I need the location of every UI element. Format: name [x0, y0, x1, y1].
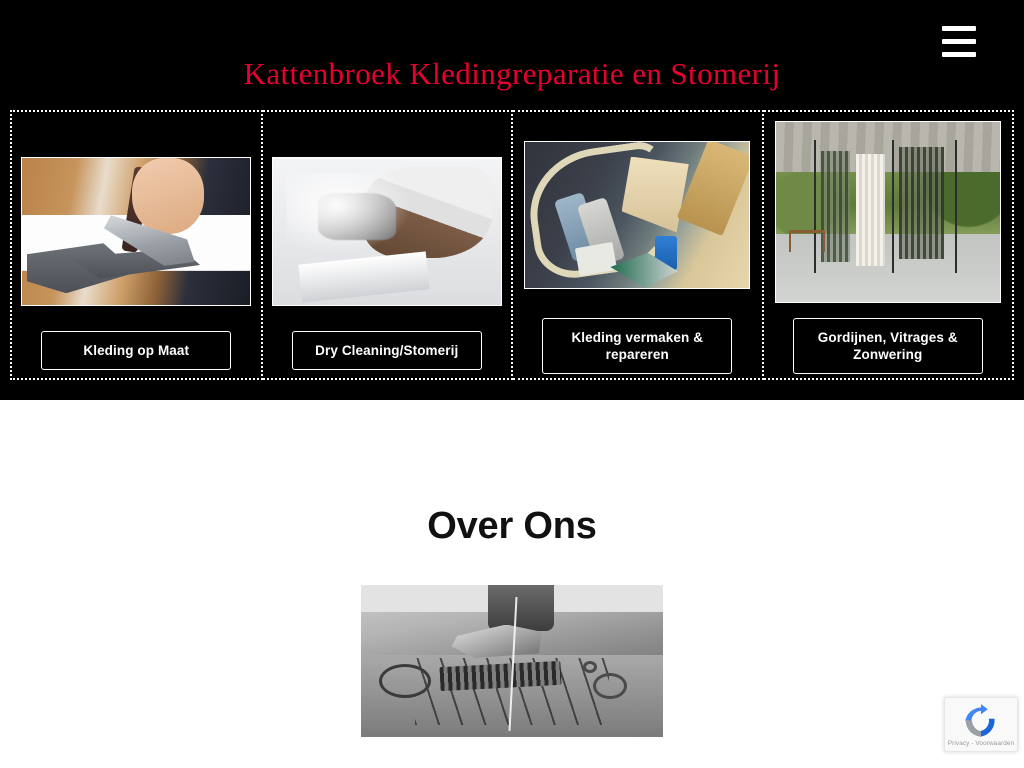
hero-section: Kattenbroek Kledingreparatie en Stomerij…: [0, 0, 1024, 400]
about-section: Over Ons Welkom op de website van Katten…: [0, 505, 1024, 768]
recaptcha-text: Privacy - Voorwaarden: [948, 740, 1014, 747]
about-title: Over Ons: [0, 505, 1024, 548]
recaptcha-logo-icon: [963, 703, 999, 739]
service-card-button[interactable]: Kleding vermaken & repareren: [542, 318, 732, 374]
service-card-button[interactable]: Gordijnen, Vitrages & Zonwering: [793, 318, 983, 374]
navigation-bar: Kattenbroek Kledingreparatie en Stomerij: [0, 0, 1024, 110]
service-card-image: [272, 157, 502, 306]
service-card-gordijnen[interactable]: Gordijnen, Vitrages & Zonwering: [764, 110, 1015, 380]
hamburger-bar-1: [942, 26, 976, 31]
service-card-button[interactable]: Kleding op Maat: [41, 331, 231, 370]
hamburger-menu-icon[interactable]: [942, 26, 976, 57]
service-card-kleding-op-maat[interactable]: Kleding op Maat: [10, 110, 263, 380]
hamburger-bar-2: [942, 39, 976, 44]
service-card-dry-cleaning[interactable]: Dry Cleaning/Stomerij: [263, 110, 514, 380]
service-card-image: [524, 141, 750, 289]
service-card-button[interactable]: Dry Cleaning/Stomerij: [292, 331, 482, 370]
service-card-kleding-vermaken[interactable]: Kleding vermaken & repareren: [513, 110, 764, 380]
recaptcha-badge[interactable]: Privacy - Voorwaarden: [944, 697, 1018, 752]
site-title: Kattenbroek Kledingreparatie en Stomerij: [0, 56, 1024, 92]
about-image: [361, 585, 663, 737]
service-card-image: [21, 157, 251, 306]
service-card-image: [775, 121, 1001, 303]
service-cards-row: Kleding op Maat Dry Cleaning/Stomerij: [10, 110, 1014, 380]
